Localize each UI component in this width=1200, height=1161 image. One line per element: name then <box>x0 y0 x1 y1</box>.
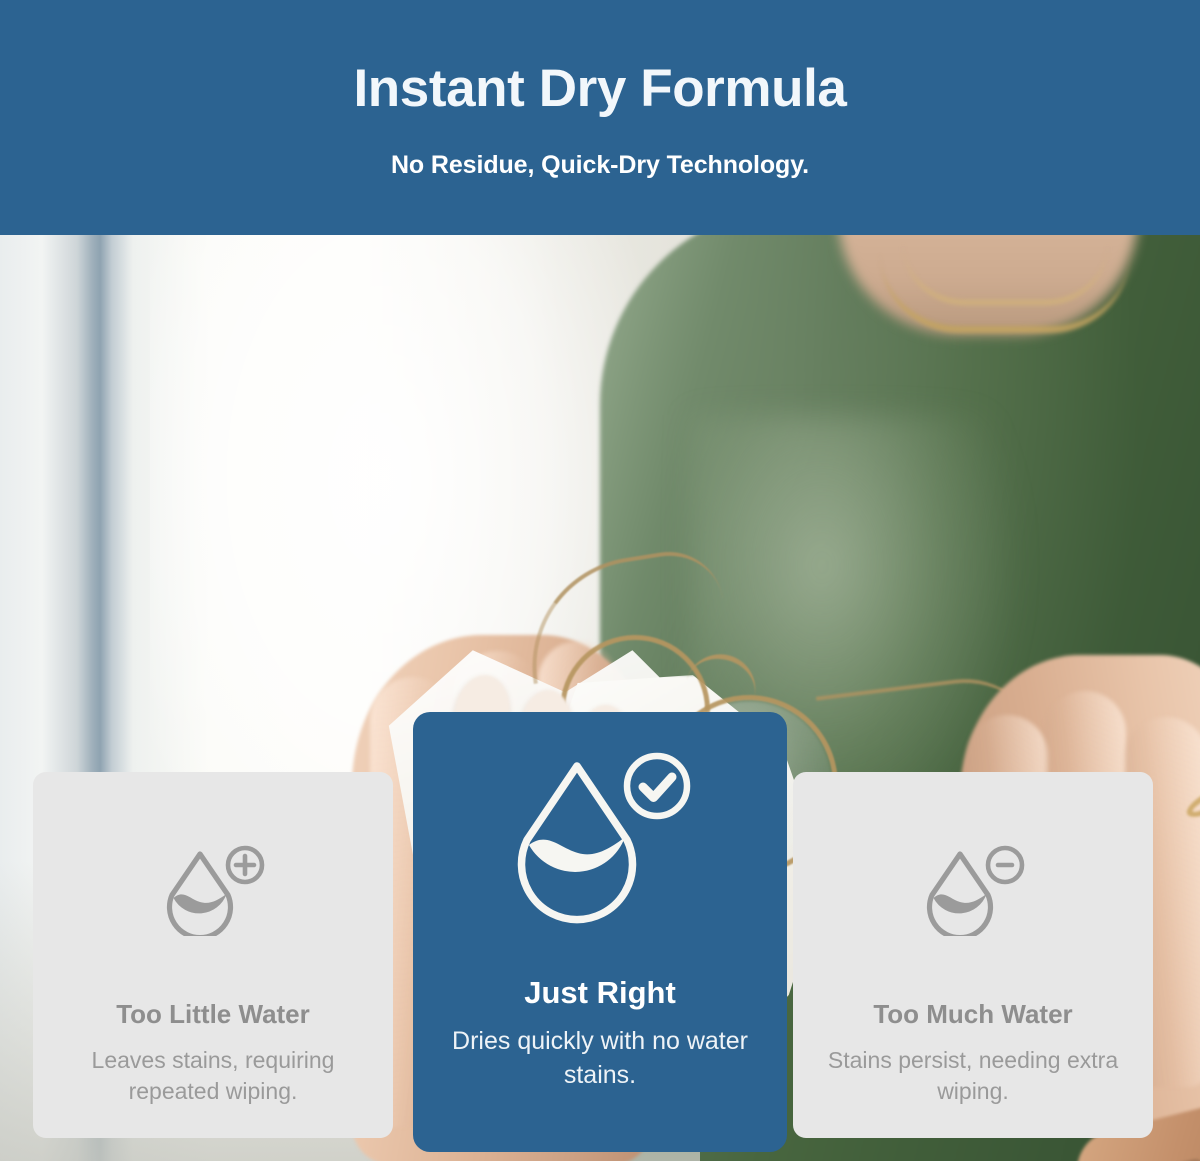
card-description: Stains persist, needing extra wiping. <box>818 1045 1128 1108</box>
card-too-little-water[interactable]: Too Little Water Leaves stains, requirin… <box>33 772 393 1138</box>
card-too-much-water[interactable]: Too Much Water Stains persist, needing e… <box>793 772 1153 1138</box>
card-description: Leaves stains, requiring repeated wiping… <box>58 1045 368 1108</box>
card-description: Dries quickly with no water stains. <box>440 1024 760 1092</box>
water-drop-plus-icon <box>159 844 267 941</box>
water-drop-check-icon <box>505 752 695 929</box>
card-title: Just Right <box>524 977 676 1008</box>
comparison-cards: Too Little Water Leaves stains, requirin… <box>0 0 1200 1161</box>
water-drop-minus-icon <box>919 844 1027 941</box>
card-title: Too Little Water <box>116 1001 310 1027</box>
card-title: Too Much Water <box>873 1001 1072 1027</box>
card-just-right[interactable]: Just Right Dries quickly with no water s… <box>413 712 787 1152</box>
